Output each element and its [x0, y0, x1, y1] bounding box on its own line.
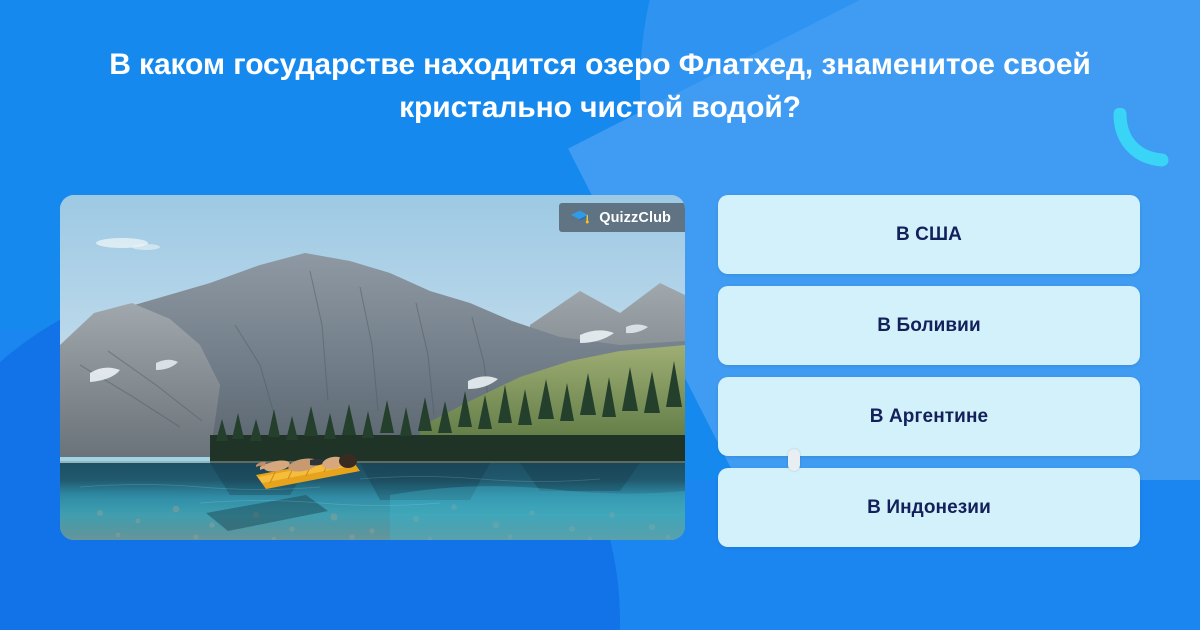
brand-name: QuizzClub	[599, 210, 671, 226]
quiz-card: В каком государстве находится озеро Флат…	[0, 0, 1200, 630]
answer-options-list: В США В Боливии В Аргентине В Индонезии	[718, 195, 1140, 547]
answer-option-label: В Аргентине	[870, 406, 988, 428]
scroll-position-marker[interactable]	[788, 449, 800, 471]
graduation-cap-icon	[569, 208, 590, 227]
answer-option-2[interactable]: В Боливии	[718, 286, 1140, 365]
question-block: В каком государстве находится озеро Флат…	[50, 44, 1150, 129]
answer-option-label: В Боливии	[877, 315, 980, 337]
answer-option-label: В Индонезии	[867, 497, 991, 519]
question-text: В каком государстве находится озеро Флат…	[50, 44, 1150, 129]
answer-option-4[interactable]: В Индонезии	[718, 468, 1140, 547]
answer-option-3[interactable]: В Аргентине	[718, 377, 1140, 456]
lake-landscape-illustration	[60, 195, 685, 540]
brand-badge: QuizzClub	[559, 203, 685, 232]
question-image: QuizzClub	[60, 195, 685, 540]
answer-option-1[interactable]: В США	[718, 195, 1140, 274]
answer-option-label: В США	[896, 224, 962, 246]
